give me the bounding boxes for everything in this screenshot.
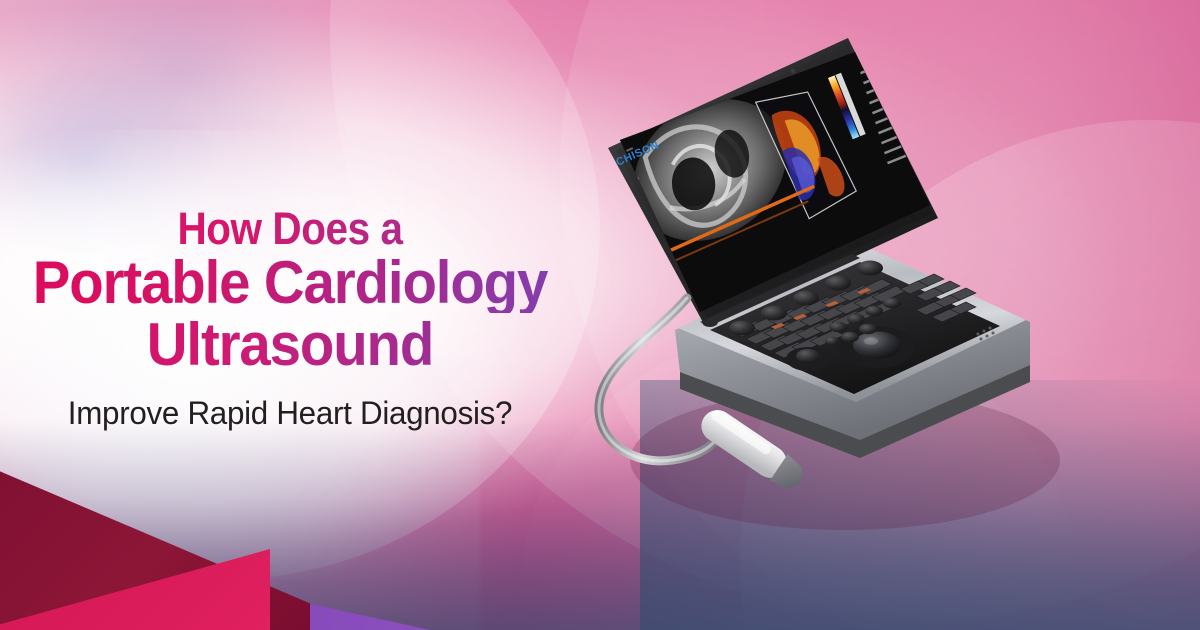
headline-line-2: Portable Cardiology — [17, 253, 562, 313]
trackball — [853, 332, 901, 359]
banner-canvas: CHISON How Does a Portable Cardiology Ul… — [0, 0, 1200, 630]
headline-line-1: How Does a — [29, 206, 551, 251]
rotary-knob — [729, 321, 755, 336]
ultrasound-device: CHISON — [560, 30, 1080, 560]
rotary-knob — [857, 261, 883, 276]
headline-line-3: Ultrasound — [17, 315, 562, 375]
rotary-knob — [761, 306, 787, 321]
secondary-joystick — [786, 347, 830, 371]
rotary-knob — [793, 291, 819, 306]
lid-sensor-icon — [791, 69, 796, 74]
headline-subtitle: Improve Rapid Heart Diagnosis? — [6, 397, 574, 429]
trackball-highlight — [864, 337, 878, 345]
headline-block: How Does a Portable Cardiology Ultrasoun… — [0, 206, 580, 429]
rotary-knob — [825, 276, 851, 291]
ultrasound-device-illustration: CHISON — [560, 30, 1080, 560]
